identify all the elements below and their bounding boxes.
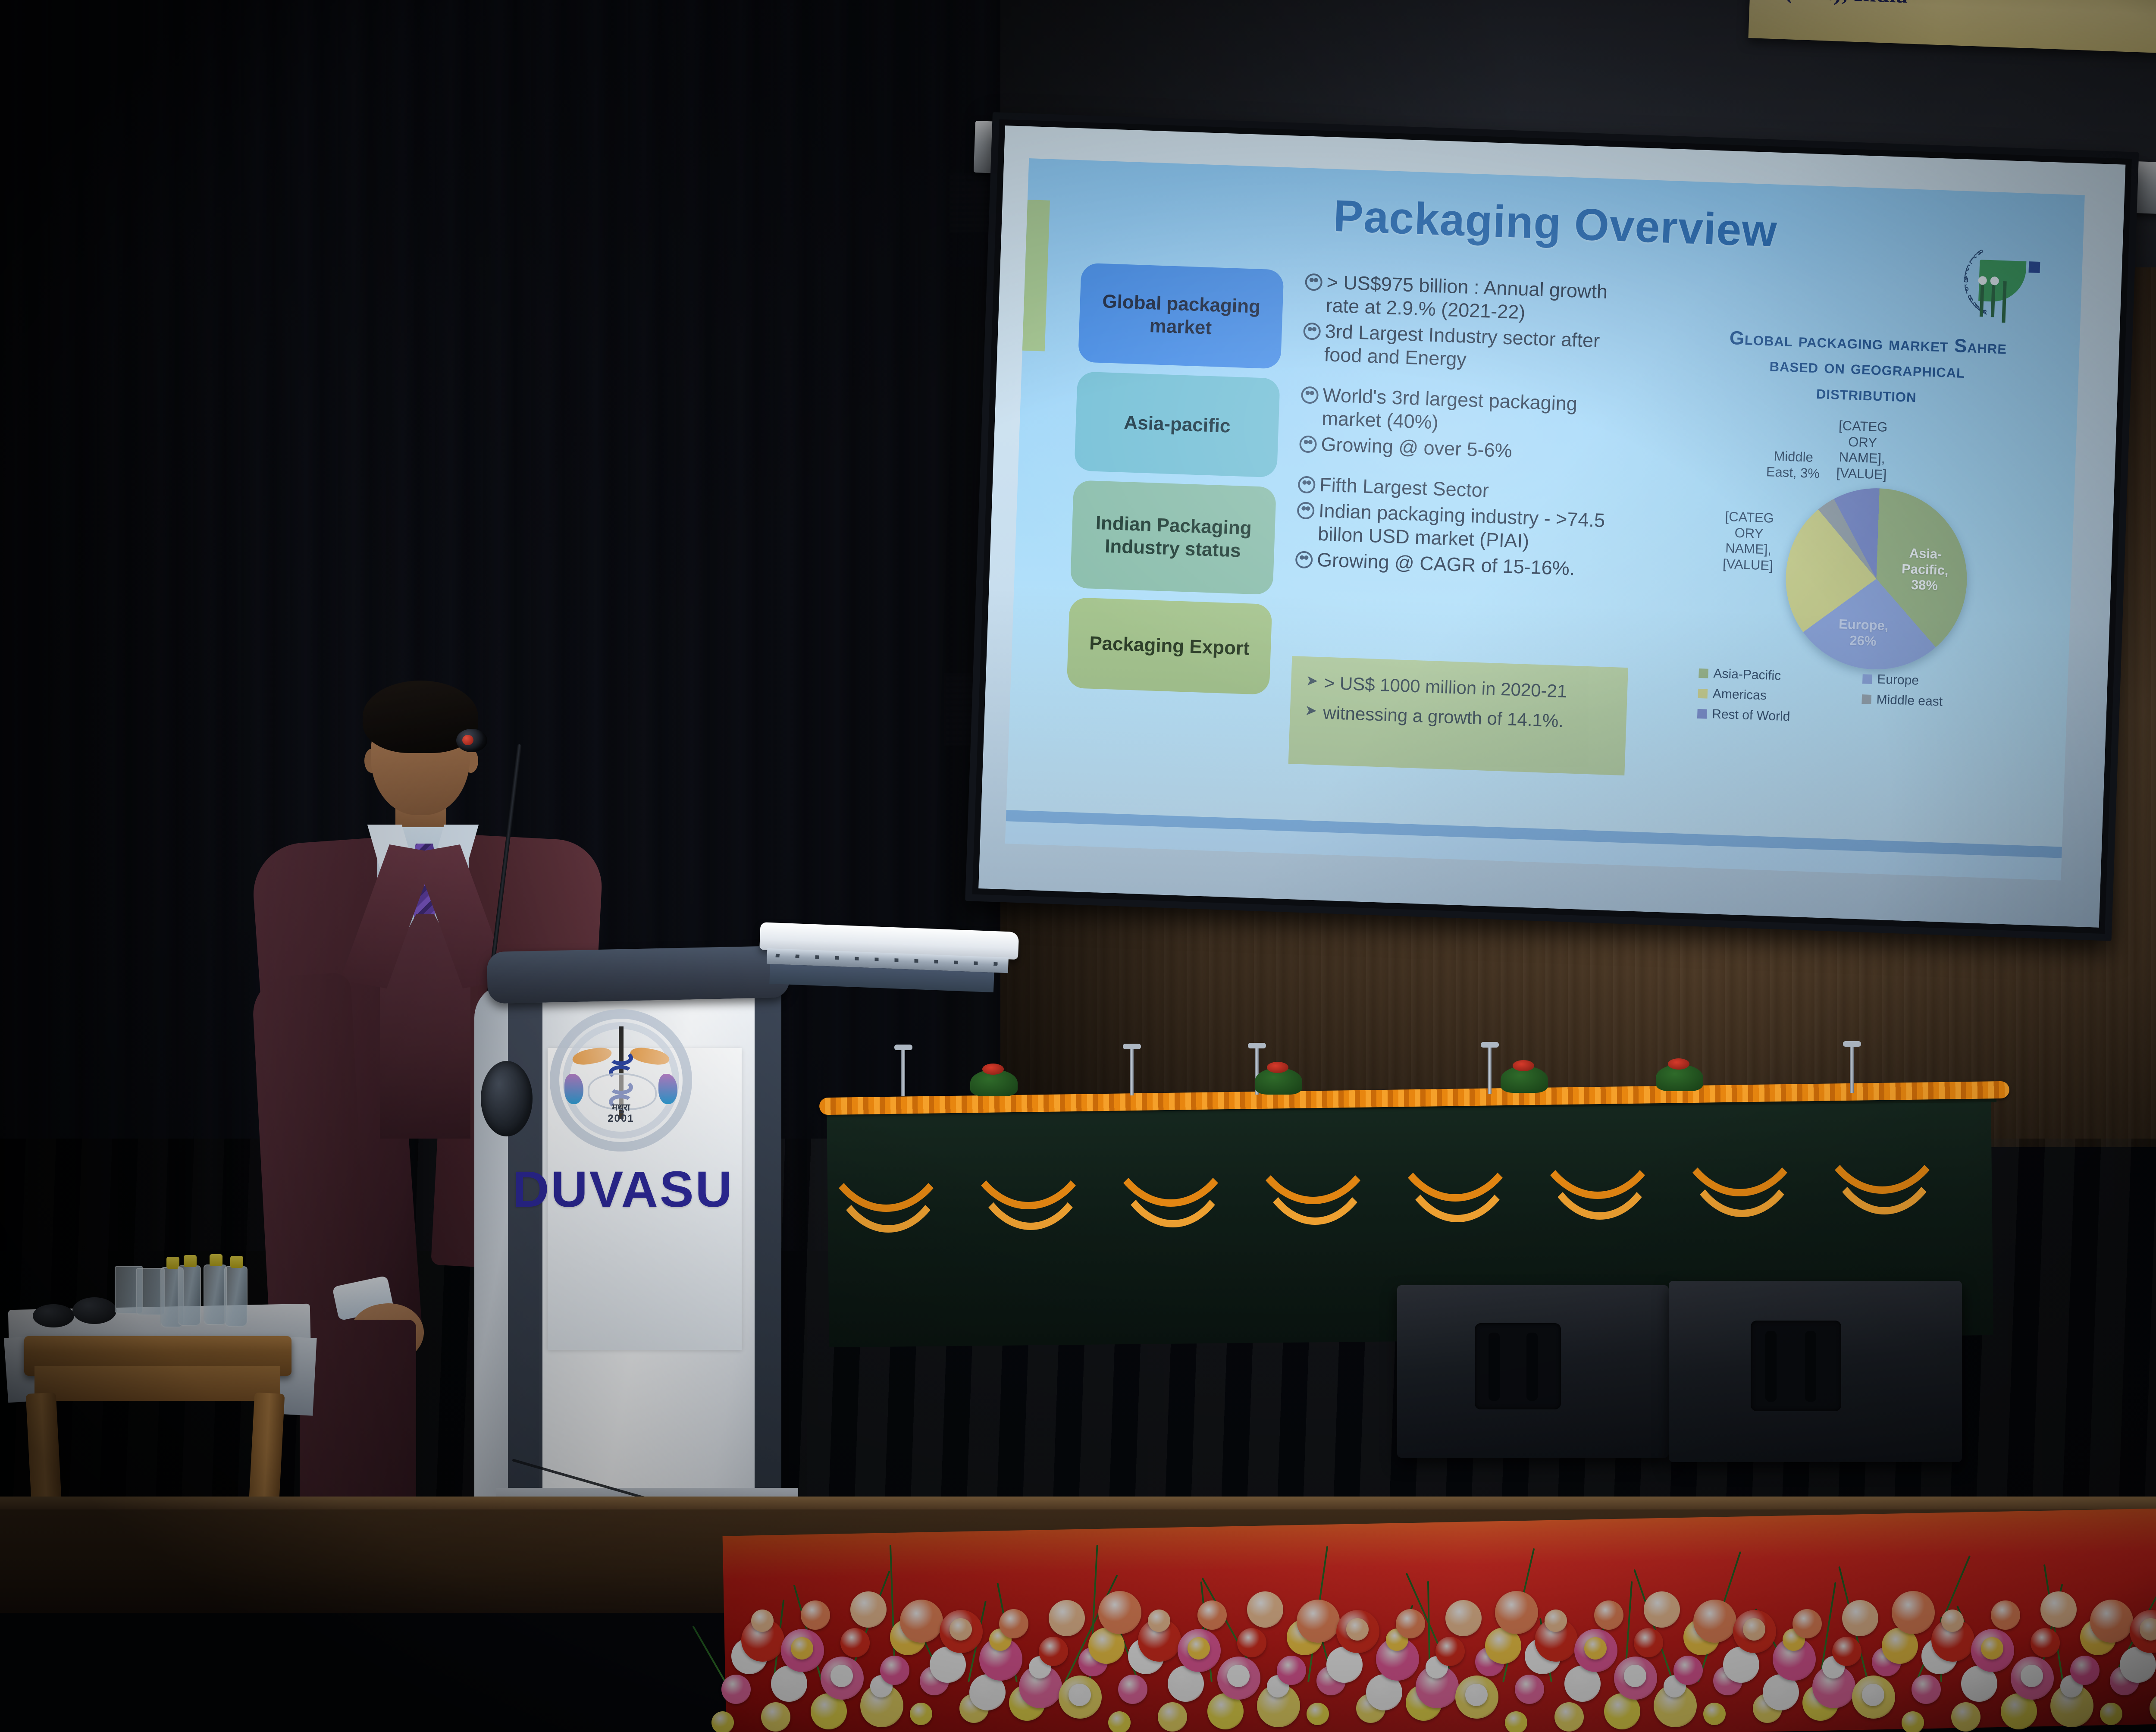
pie-label-middle-east: Middle East, 3% <box>1758 448 1828 482</box>
pie-label-rest-of-world: [CATEG ORY NAME], [VALUE] <box>1829 417 1896 483</box>
podium-oval-cutout <box>481 1061 533 1136</box>
decorative-flower <box>1108 1711 1131 1732</box>
pie-chart-block: Global packaging market Sahre based on g… <box>1667 323 2059 697</box>
monitor-slot <box>1489 1333 1500 1401</box>
table-apron <box>34 1366 280 1401</box>
decorative-flower <box>1237 1628 1266 1657</box>
pie-label-americas: [CATEG ORY NAME], [VALUE] <box>1715 508 1782 574</box>
iip-logo-icon: Packaging for Better Living <box>1959 238 2044 323</box>
projector-screen-surface: Packaging Overview Packaging for Better … <box>978 126 2125 928</box>
decorative-flower <box>1554 1702 1584 1732</box>
decorative-flower <box>2070 1656 2100 1685</box>
chart-title: Global packaging market Sahre based on g… <box>1677 323 2059 414</box>
bullet-marker-icon <box>1305 273 1322 291</box>
dark-object-1 <box>33 1304 74 1327</box>
decorative-flower <box>721 1675 751 1704</box>
decorative-flower <box>1465 1684 1488 1706</box>
stage-edge-lip <box>0 1497 2156 1511</box>
monitor-handle <box>1751 1321 1841 1411</box>
decorative-flower <box>1624 1665 1646 1687</box>
decorative-flower <box>1703 1703 1726 1725</box>
bullet-text: > US$975 billion : Annual growth rate at… <box>1326 270 1642 328</box>
legend-label: Middle east <box>1876 693 1943 709</box>
table-flower-arrangement-2 <box>1255 1068 1302 1095</box>
decorative-flower <box>840 1628 870 1657</box>
bullet-text: Indian packaging industry - >74.5 billon… <box>1317 499 1633 556</box>
decorative-flower <box>1545 1610 1567 1632</box>
emblem-year-label: 2001 <box>550 1113 692 1125</box>
legend-label: Europe <box>1877 672 1919 688</box>
decorative-flower <box>1435 1637 1465 1666</box>
presentation-slide: Packaging Overview Packaging for Better … <box>1005 158 2085 881</box>
podium-pullout-shelf[interactable] <box>758 922 1028 1010</box>
decorative-flower <box>1098 1591 1141 1634</box>
bullet-text: 3rd Largest Industry sector after food a… <box>1324 320 1640 377</box>
decorative-flower <box>1297 1600 1340 1643</box>
water-bottle-4 <box>224 1266 248 1327</box>
decorative-flower <box>1584 1637 1607 1660</box>
decorative-flower <box>2150 1694 2156 1723</box>
decorative-flower <box>1842 1600 1878 1636</box>
packaging-export-callout: ➤ > US$ 1000 million in 2020-21 ➤ witnes… <box>1288 656 1628 775</box>
stage-monitor-left <box>1397 1285 1669 1458</box>
decorative-flower <box>1396 1609 1425 1638</box>
decorative-flower <box>1951 1702 1981 1732</box>
bullet-line: 3rd Largest Industry sector after food a… <box>1302 319 1640 377</box>
decorative-flower <box>1634 1628 1663 1657</box>
arrow-bullet-icon: ➤ <box>1304 701 1317 720</box>
label-line: Europe, <box>1833 616 1894 634</box>
bullet-marker-icon <box>1297 502 1315 519</box>
decorative-flower <box>1941 1610 1964 1632</box>
decorative-flower <box>1743 1618 1765 1641</box>
export-text: witnessing a growth of 14.1%. <box>1322 701 1564 732</box>
bullet-marker-icon <box>1303 322 1321 340</box>
label-line: [VALUE] <box>1829 465 1894 483</box>
decorative-flower <box>1892 1591 1935 1634</box>
podium-top-surface <box>487 946 790 1004</box>
legend-swatch-icon <box>1698 668 1708 678</box>
decorative-flower <box>1346 1618 1369 1641</box>
legend-swatch-icon <box>1861 694 1871 704</box>
chart-legend: Asia-Pacific Europe Americas <box>1697 666 2026 738</box>
auditorium-photo: (U.P.), India Packaging Overview Packagi… <box>0 0 2156 1732</box>
legend-label: Americas <box>1712 687 1767 703</box>
decorative-flower <box>1158 1702 1187 1732</box>
slide-title: Packaging Overview <box>1026 180 2084 268</box>
decorative-flower <box>999 1609 1028 1638</box>
decorative-flower <box>1981 1637 2003 1660</box>
label-line: [VALUE] <box>1715 556 1780 574</box>
decorative-flower <box>1505 1711 1527 1732</box>
label-line: ORY <box>1830 433 1895 452</box>
podium-right-band <box>755 983 781 1540</box>
decorative-flower <box>1307 1703 1329 1725</box>
label-line: Pacific, <box>1895 561 1955 578</box>
bullet-text: World's 3rd largest packaging market (40… <box>1322 383 1638 441</box>
decorative-flower <box>1673 1656 1703 1685</box>
decorative-flower <box>1792 1609 1822 1638</box>
bullet-marker-icon <box>1295 551 1313 568</box>
duvasu-emblem-icon: मथुरा 2001 <box>550 1009 692 1152</box>
export-text: > US$ 1000 million in 2020-21 <box>1324 672 1567 703</box>
stage-monitor-right <box>1669 1281 1962 1462</box>
decorative-flower <box>1991 1600 2020 1630</box>
monitor-slot <box>1526 1333 1538 1401</box>
category-pill-column: Global packaging market Asia-pacific Ind… <box>1066 263 1284 704</box>
decorative-flower <box>1862 1684 1884 1706</box>
decorative-flower <box>1069 1684 1091 1706</box>
iip-blue-square <box>2028 261 2040 273</box>
decorative-flower <box>2021 1665 2043 1687</box>
decorative-flower <box>1912 1675 1941 1704</box>
decorative-flower <box>1902 1711 1924 1732</box>
duvasu-wordmark: DUVASU <box>509 1160 737 1219</box>
bullet-marker-icon <box>1301 386 1319 404</box>
decorative-flower <box>1515 1675 1544 1704</box>
bullet-marker-icon <box>1299 435 1317 453</box>
label-line: NAME], <box>1716 540 1781 559</box>
export-line: ➤ > US$ 1000 million in 2020-21 <box>1305 671 1614 704</box>
water-bottle-2 <box>178 1265 201 1326</box>
decorative-flower-bed <box>707 1570 2156 1732</box>
bullet-marker-icon <box>1298 476 1316 493</box>
table-microphone-2 <box>1130 1048 1134 1095</box>
decorative-flower <box>1197 1600 1227 1630</box>
legend-item-asia-pacific: Asia-Pacific <box>1698 666 1863 686</box>
decorative-flower <box>1445 1600 1482 1636</box>
decorative-flower <box>1832 1637 1861 1666</box>
decorative-flower <box>711 1711 734 1732</box>
label-line: [CATEG <box>1717 508 1782 527</box>
legend-label: Asia-Pacific <box>1713 666 1781 683</box>
legend-label: Rest of World <box>1712 707 1790 724</box>
pill-indian-packaging-industry-status: Indian Packaging Industry status <box>1070 480 1276 595</box>
table-microphone-4 <box>1488 1046 1492 1094</box>
bullet-line: World's 3rd largest packaging market (40… <box>1300 383 1638 441</box>
decorative-flower <box>1148 1610 1170 1632</box>
legend-item-middle-east: Middle east <box>1861 692 2026 712</box>
table-microphone-1 <box>901 1049 905 1096</box>
decorative-flower <box>1594 1600 1623 1630</box>
arrow-bullet-icon: ➤ <box>1306 671 1319 690</box>
decorative-flower <box>791 1637 813 1660</box>
monitor-slot <box>1805 1331 1816 1402</box>
decorative-flower <box>1227 1665 1250 1687</box>
legend-swatch-icon <box>1697 709 1707 719</box>
decorative-flower <box>751 1610 774 1632</box>
label-line: East, 3% <box>1758 464 1827 482</box>
pie-chart-area: [CATEG ORY NAME], [VALUE] Middle East, 3… <box>1667 408 2056 697</box>
decorative-flower <box>880 1656 909 1685</box>
label-line: Middle <box>1759 448 1828 466</box>
decorative-flower <box>1039 1637 1068 1666</box>
decorative-flower <box>2090 1600 2133 1643</box>
bullet-group-asia-pacific: World's 3rd largest packaging market (40… <box>1299 383 1638 467</box>
decorative-flower <box>1644 1591 1680 1628</box>
bullet-group-indian-status: Fifth Largest Sector Indian packaging in… <box>1295 472 1634 582</box>
label-line: [CATEG <box>1830 417 1896 436</box>
decorative-flower <box>950 1618 972 1641</box>
legend-swatch-icon <box>1862 674 1872 684</box>
label-line: NAME], <box>1830 449 1895 468</box>
decorative-flower <box>1693 1600 1736 1643</box>
decorative-flower <box>1277 1656 1306 1685</box>
decorative-flower <box>910 1703 932 1725</box>
decorative-flower <box>830 1665 853 1687</box>
bullet-column: > US$975 billion : Annual growth rate at… <box>1294 270 1642 600</box>
decorative-flower <box>1118 1675 1147 1704</box>
decorative-flower <box>1247 1591 1283 1628</box>
label-line: 38% <box>1894 577 1955 594</box>
dark-object-2 <box>72 1297 116 1324</box>
legend-item-americas: Americas <box>1698 686 1862 706</box>
emblem-city-label: मथुरा <box>550 1101 692 1114</box>
pill-asia-pacific: Asia-pacific <box>1074 371 1280 477</box>
pill-packaging-export: Packaging Export <box>1067 597 1272 695</box>
decorative-flower <box>2040 1591 2077 1628</box>
bullet-line: > US$975 billion : Annual growth rate at… <box>1304 270 1642 328</box>
label-line: 26% <box>1833 632 1893 650</box>
decorative-flower <box>900 1600 943 1643</box>
export-line: ➤ witnessing a growth of 14.1%. <box>1304 701 1614 734</box>
label-line: Asia- <box>1895 545 1956 563</box>
water-bottle-3 <box>204 1264 227 1325</box>
monitor-slot <box>1765 1331 1777 1402</box>
projector-screen-frame: Packaging Overview Packaging for Better … <box>965 112 2139 941</box>
pie-slice-label-europe: Europe, 26% <box>1833 616 1894 650</box>
bullet-group-global: > US$975 billion : Annual growth rate at… <box>1302 270 1642 377</box>
decorative-flower <box>801 1600 830 1630</box>
decorative-flower <box>1049 1600 1085 1636</box>
bullet-line: Indian packaging industry - >74.5 billon… <box>1296 498 1633 556</box>
decorative-flower <box>850 1591 887 1628</box>
microphone-indicator-light <box>462 735 473 745</box>
monitor-handle <box>1475 1323 1561 1409</box>
label-line: ORY <box>1716 524 1781 543</box>
legend-item-rest-of-world: Rest of World <box>1697 706 1861 727</box>
decorative-flower <box>2100 1703 2122 1725</box>
pill-global-packaging-market: Global packaging market <box>1078 263 1284 369</box>
pie-slice-label-asia-pacific: Asia- Pacific, 38% <box>1894 545 1956 595</box>
decorative-flower <box>1188 1637 1210 1660</box>
decorative-flower <box>1495 1591 1538 1634</box>
legend-item-europe: Europe <box>1862 671 2027 692</box>
decorative-flower <box>2031 1628 2060 1657</box>
decorative-flower <box>761 1702 790 1732</box>
legend-swatch-icon <box>1698 689 1708 699</box>
table-flower-arrangement-1 <box>970 1070 1018 1096</box>
